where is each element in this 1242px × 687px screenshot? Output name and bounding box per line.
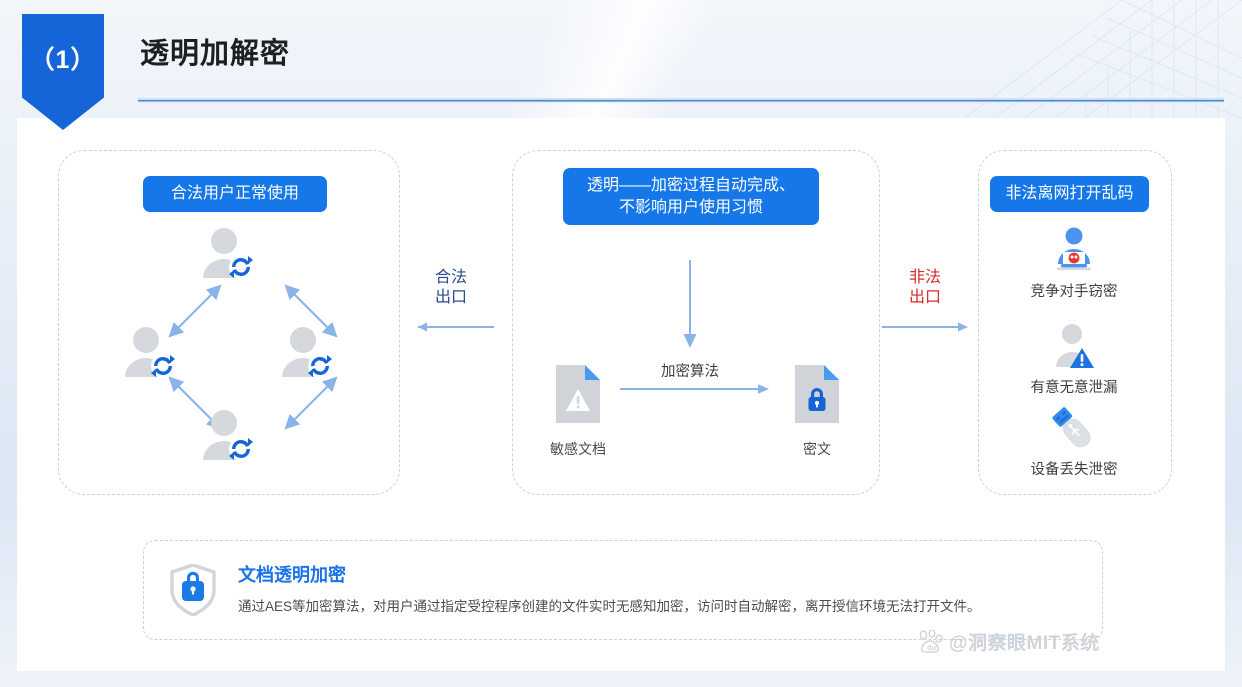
page-title: 透明加解密: [140, 30, 290, 72]
badge-legal-users: 合法用户正常使用: [143, 176, 327, 212]
watermark-text: @洞察眼MIT系统: [949, 628, 1100, 655]
arrow-right-icon: [620, 382, 770, 396]
info-description: 通过AES等加密算法，对用户通过指定受控程序创建的文件实时无感知加密，访问时自动…: [238, 596, 1076, 618]
step-number-pointer: （1）: [22, 14, 104, 130]
baidu-paw-icon: du: [918, 630, 944, 654]
sensitive-document-icon: [556, 365, 600, 423]
sensitive-document-label: 敏感文档: [518, 439, 638, 459]
ciphertext-document-icon: [795, 365, 839, 423]
title-divider: [138, 98, 1224, 103]
flow-legal-line1: 合法: [406, 268, 496, 288]
background-architecture-lines: [822, 0, 1242, 135]
flow-legal-export: 合法 出口: [406, 268, 496, 334]
flow-illegal-export: 非法 出口: [880, 268, 970, 334]
arrow-down-icon: [673, 260, 707, 350]
arrow-right-icon: [880, 320, 970, 334]
arrow-left-icon: [406, 320, 496, 334]
flow-illegal-line2: 出口: [880, 288, 970, 308]
background-light-sweep: [430, 0, 790, 130]
badge-transparent-encryption: 透明——加密过程自动完成、 不影响用户使用习惯: [563, 168, 819, 225]
flow-illegal-line1: 非法: [880, 268, 970, 288]
svg-text:du: du: [927, 645, 937, 652]
risk-label: 竞争对手窃密: [978, 280, 1170, 301]
info-title: 文档透明加密: [238, 561, 1076, 587]
ciphertext-document-label: 密文: [757, 439, 877, 459]
info-box: 文档透明加密 通过AES等加密算法，对用户通过指定受控程序创建的文件实时无感知加…: [143, 540, 1103, 640]
risk-item-device-loss: 设备丢失泄密: [978, 400, 1170, 479]
risk-label: 设备丢失泄密: [978, 458, 1170, 479]
user-sync-icon: [197, 408, 259, 470]
user-sync-icon: [119, 325, 181, 387]
user-sync-icon: [197, 226, 259, 288]
person-warning-icon: [978, 318, 1170, 370]
step-number-label: （1）: [22, 40, 104, 76]
hacker-laptop-icon: [978, 222, 1170, 274]
watermark: du @洞察眼MIT系统: [918, 628, 1100, 655]
risk-label: 有意无意泄漏: [978, 376, 1170, 397]
badge-illegal-access: 非法离网打开乱码: [990, 176, 1149, 212]
risk-item-competitor: 竞争对手窃密: [978, 222, 1170, 301]
flow-legal-line2: 出口: [406, 288, 496, 308]
encryption-algorithm-label: 加密算法: [630, 360, 750, 381]
usb-drive-icon: [978, 400, 1170, 452]
shield-lock-icon: [170, 564, 216, 616]
user-sync-icon: [276, 325, 338, 387]
risk-item-leak: 有意无意泄漏: [978, 318, 1170, 397]
info-text-wrap: 文档透明加密 通过AES等加密算法，对用户通过指定受控程序创建的文件实时无感知加…: [238, 561, 1076, 618]
slide-root: （1） 透明加解密 合法用户正常使用: [0, 0, 1242, 687]
